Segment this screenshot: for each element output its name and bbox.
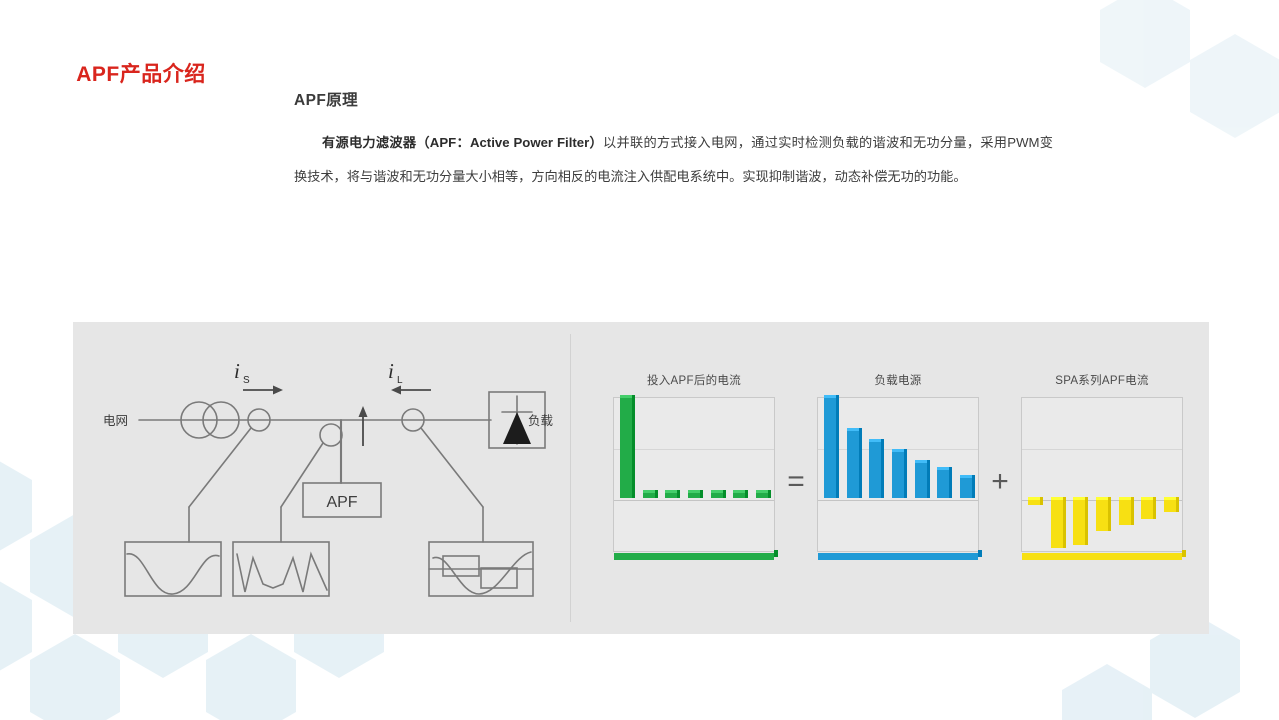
chart-title-apf-current: SPA系列APF电流 (1021, 372, 1183, 388)
chart-bar (643, 493, 655, 498)
chart-bar (756, 493, 768, 498)
chart-block-load-source: 负载电源 (817, 372, 979, 552)
chart-frame-load-source (817, 397, 979, 552)
current-load-subscript: L (397, 375, 403, 386)
current-load-arrow-icon (391, 386, 401, 395)
card-heading: APF原理 (294, 88, 1053, 110)
injection-arrow-icon (359, 406, 368, 417)
chart-bar (937, 470, 949, 498)
card-body-emphasis: 有源电力滤波器（APF：Active Power Filter） (322, 135, 603, 150)
apf-box-label: APF (326, 494, 357, 511)
chart-baseplate (818, 553, 978, 560)
chart-bar (1073, 500, 1085, 545)
harmonic-charts-group: 投入APF后的电流 = 负载电源 + (613, 372, 1193, 602)
slide-title-badge: APF产品介绍 (52, 51, 230, 94)
page-title: APF产品介绍 (76, 58, 206, 88)
chart-bar (620, 398, 632, 498)
chart-bar (824, 398, 836, 498)
panel-divider (570, 334, 571, 622)
plus-sign: + (979, 467, 1021, 497)
chart-bar (1028, 500, 1040, 505)
chart-frame-after-apf (613, 397, 775, 552)
chart-bar (1096, 500, 1108, 531)
apf-principle-card: APF原理 有源电力滤波器（APF：Active Power Filter）以并… (258, 71, 1083, 241)
chart-bar (1051, 500, 1063, 548)
chart-bar (1164, 500, 1176, 512)
chart-bar (892, 452, 904, 498)
chart-bar (1141, 500, 1153, 519)
chart-block-apf-current: SPA系列APF电流 (1021, 372, 1183, 552)
current-source-arrow-icon (273, 386, 283, 395)
chart-bar (711, 493, 723, 498)
chart-block-after-apf: 投入APF后的电流 (613, 372, 775, 552)
grid-label: 电网 (103, 414, 128, 428)
chart-title-after-apf: 投入APF后的电流 (613, 372, 775, 388)
load-label: 负载 (528, 414, 554, 428)
chart-frame-apf-current (1021, 397, 1183, 552)
chart-bar (915, 463, 927, 498)
chart-title-load-source: 负载电源 (817, 372, 979, 388)
thyristor-symbol (503, 412, 531, 444)
chart-baseplate (614, 553, 774, 560)
chart-bar (847, 431, 859, 498)
chart-bar (733, 493, 745, 498)
equals-sign: = (775, 467, 817, 497)
current-load-symbol: i (388, 359, 394, 383)
current-source-symbol: i (234, 359, 240, 383)
diagram-panel: 电网 负载 APF i S i L 投入APF后的电流 = 负载电源 (73, 322, 1209, 634)
chart-bar (665, 493, 677, 498)
chart-baseplate (1022, 553, 1182, 560)
circuit-diagram: 电网 负载 APF i S i L (91, 344, 561, 614)
chart-bar (960, 478, 972, 498)
card-body-text: 有源电力滤波器（APF：Active Power Filter）以并联的方式接入… (294, 126, 1053, 193)
current-source-subscript: S (243, 375, 250, 386)
chart-bar (869, 442, 881, 498)
chart-bar (688, 493, 700, 498)
chart-bar (1119, 500, 1131, 525)
